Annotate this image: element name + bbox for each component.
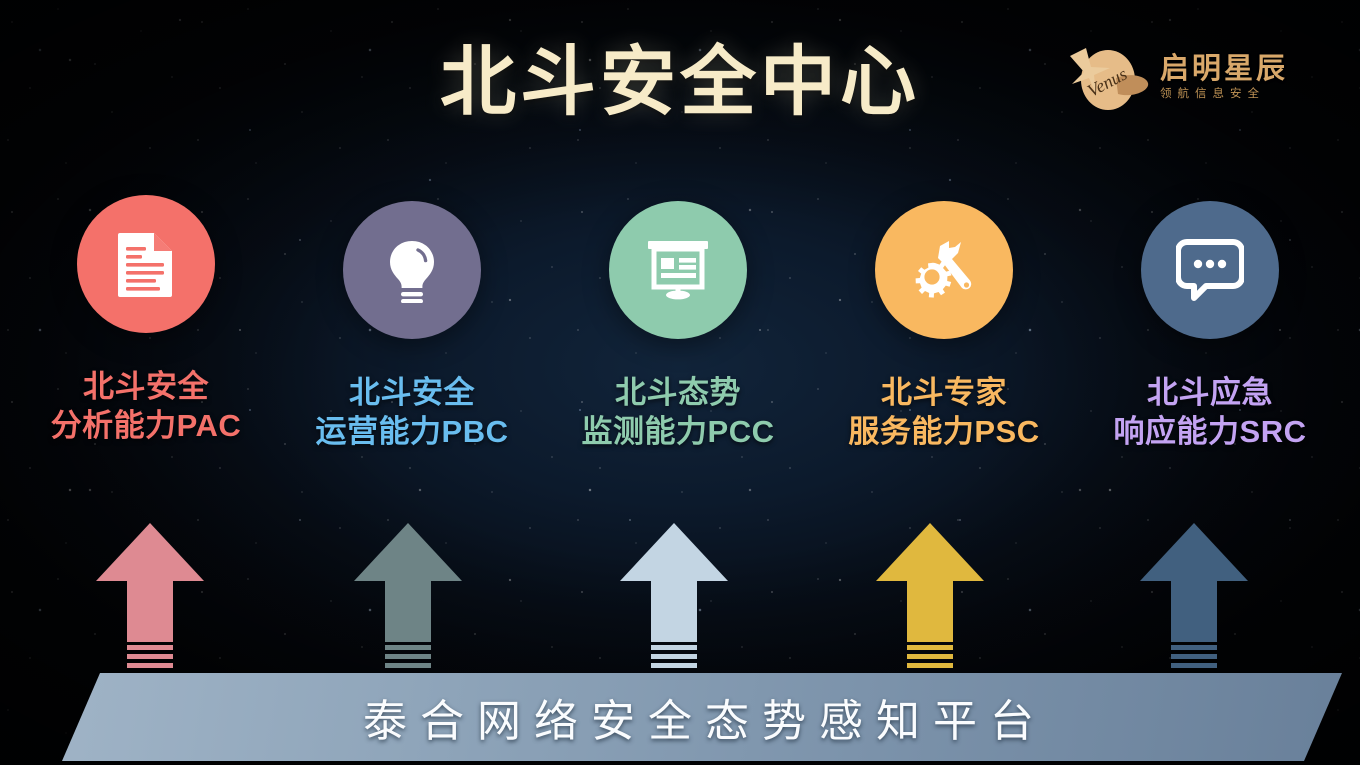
up-arrow-psc	[876, 505, 984, 673]
upward-arrow-row	[0, 505, 1360, 680]
document-icon	[116, 231, 176, 297]
up-arrow-pac	[96, 505, 204, 673]
pillar-icon-circle-pbc[interactable]	[343, 201, 481, 339]
logo-tagline: 领航信息安全	[1160, 89, 1288, 101]
chat-bubble-icon	[1176, 239, 1244, 301]
pillar-label-src: 北斗应急 响应能力SRC	[1074, 373, 1346, 451]
pillar-label-pac: 北斗安全 分析能力PAC	[10, 367, 282, 445]
pillar-icon-circle-pac[interactable]	[77, 195, 215, 333]
up-arrow-pbc	[354, 505, 462, 673]
pillar-label-pcc: 北斗态势 监测能力PCC	[542, 373, 814, 451]
pillar-src[interactable]: 北斗应急 响应能力SRC	[1074, 201, 1346, 451]
slide-canvas: 北斗安全中心 Venus 启明星辰 领航信息安全	[0, 0, 1360, 765]
pillar-pbc[interactable]: 北斗安全 运营能力PBC	[276, 201, 548, 451]
logo-company-name: 启明星辰	[1160, 55, 1288, 84]
arrow-src-wrap	[1058, 505, 1330, 673]
venus-logo-icon: Venus	[1058, 38, 1150, 118]
up-arrow-src	[1140, 505, 1248, 673]
arrow-pcc-wrap	[538, 505, 810, 673]
pillar-icon-circle-psc[interactable]	[875, 201, 1013, 339]
presentation-screen-icon	[646, 239, 710, 301]
arrow-pbc-wrap	[272, 505, 544, 673]
lightbulb-icon	[382, 237, 442, 303]
pillar-icon-circle-src[interactable]	[1141, 201, 1279, 339]
up-arrow-pcc	[620, 505, 728, 673]
arrow-pac-wrap	[14, 505, 286, 673]
pillar-psc[interactable]: 北斗专家 服务能力PSC	[808, 201, 1080, 451]
wrench-gear-icon	[911, 239, 977, 301]
pillar-pcc[interactable]: 北斗态势 监测能力PCC	[542, 201, 814, 451]
platform-label: 泰合网络安全态势感知平台	[357, 685, 1047, 749]
platform-bar[interactable]: 泰合网络安全态势感知平台	[62, 673, 1342, 761]
arrow-psc-wrap	[794, 505, 1066, 673]
pillar-icon-circle-pcc[interactable]	[609, 201, 747, 339]
pillar-label-psc: 北斗专家 服务能力PSC	[808, 373, 1080, 451]
brand-logo: Venus 启明星辰 领航信息安全	[1058, 34, 1310, 122]
pillar-label-pbc: 北斗安全 运营能力PBC	[276, 373, 548, 451]
capability-pillar-row: 北斗安全 分析能力PAC 北斗安全 运营能力PBC	[0, 195, 1360, 495]
pillar-pac[interactable]: 北斗安全 分析能力PAC	[10, 195, 282, 445]
